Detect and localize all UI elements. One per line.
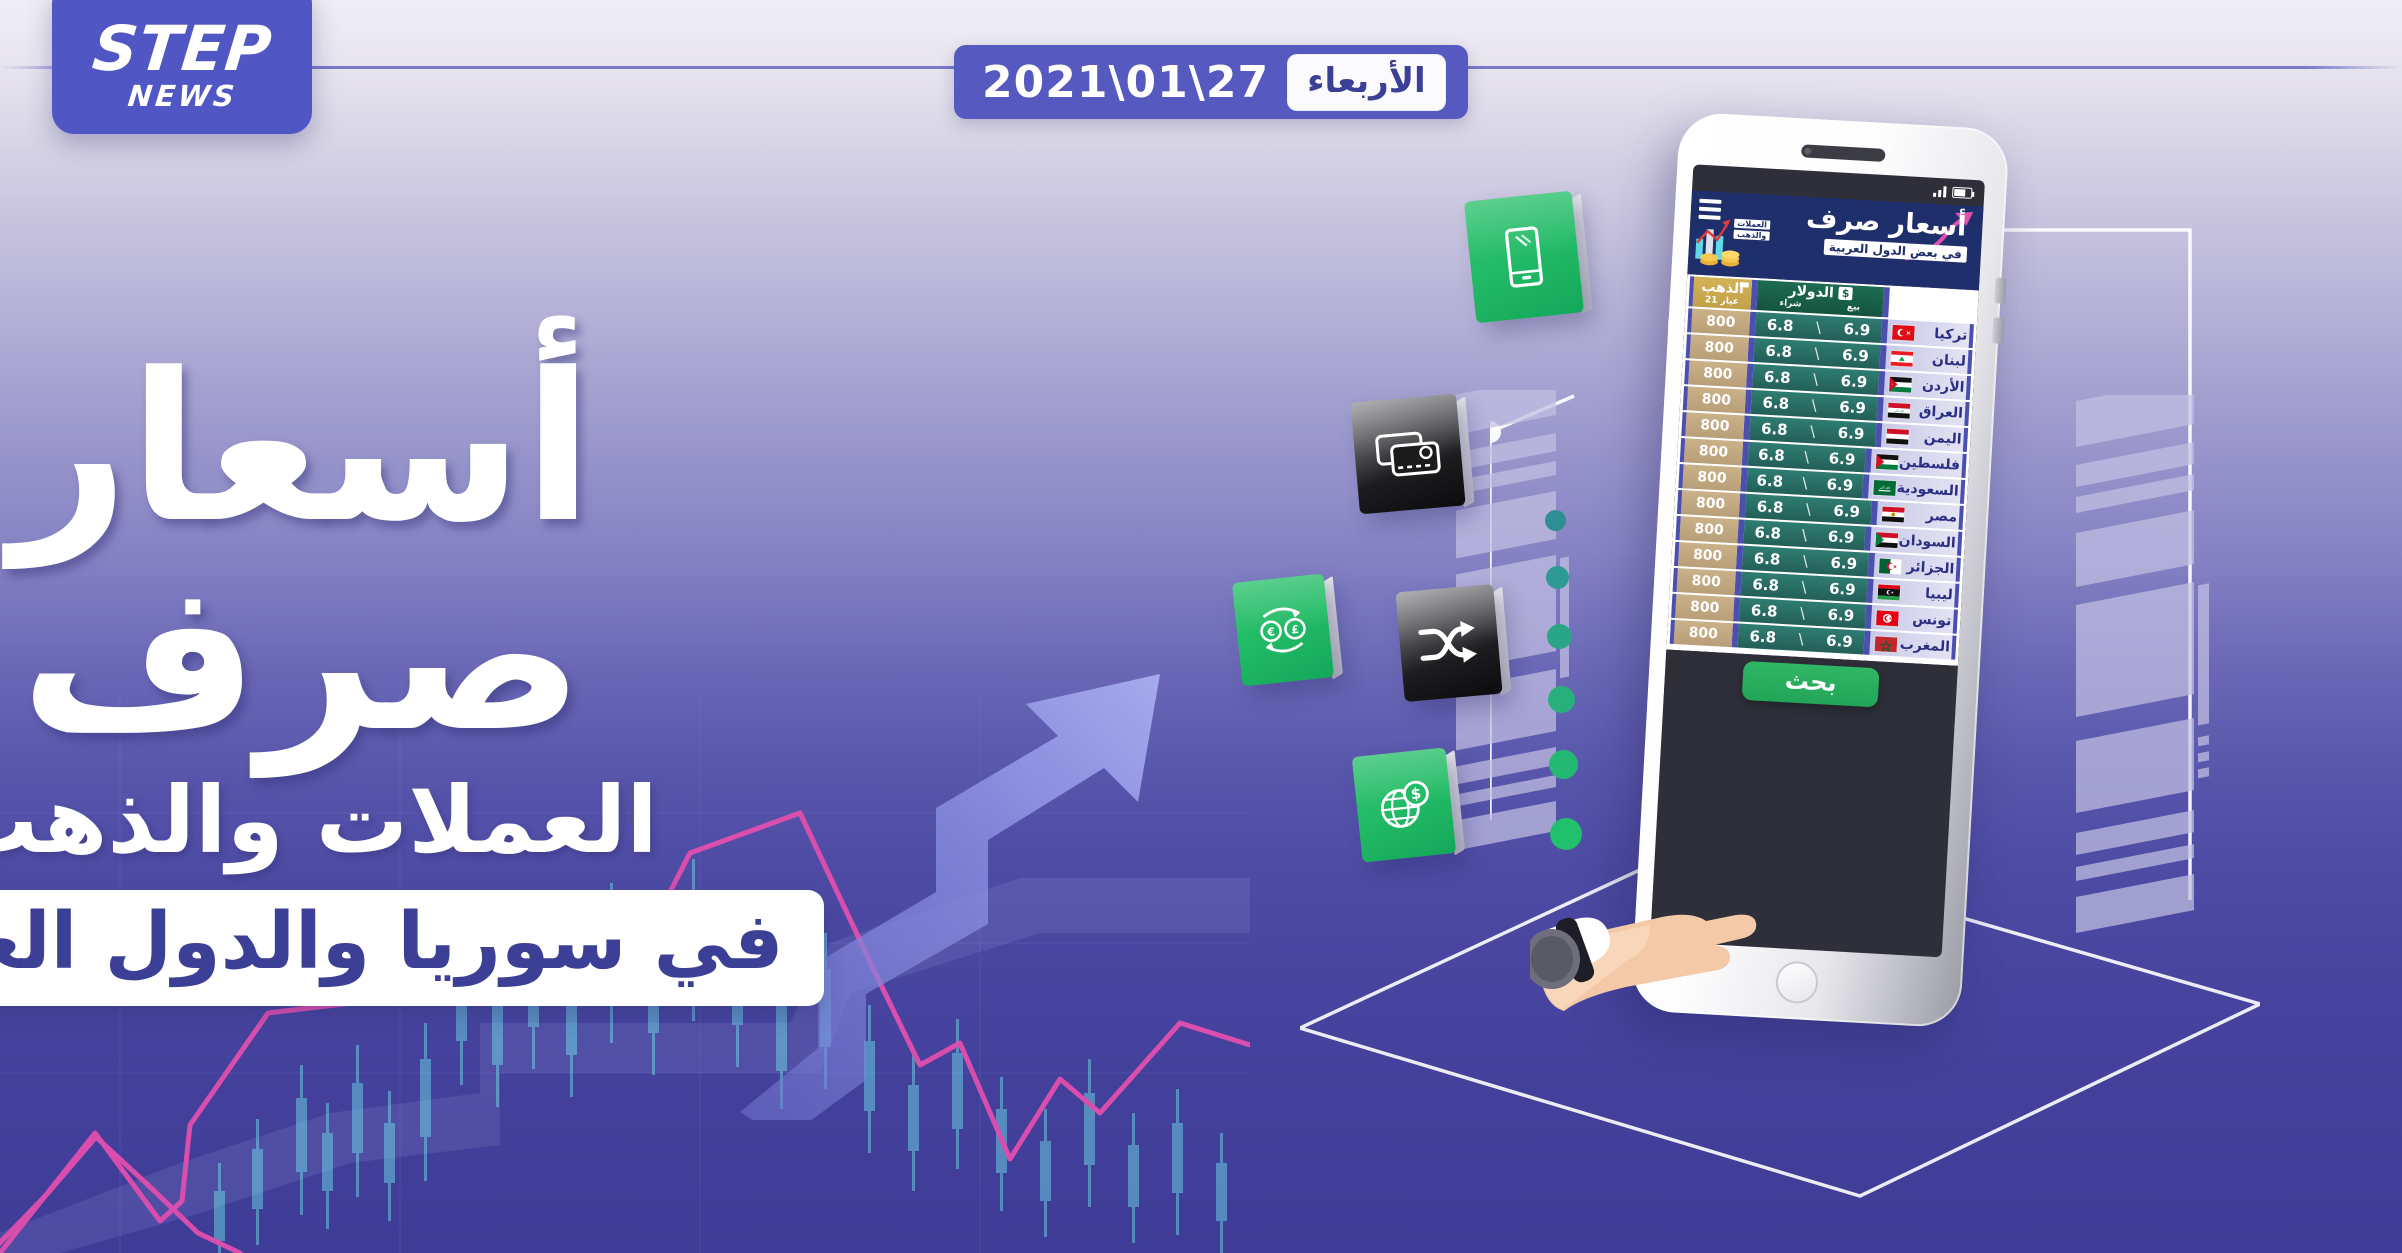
dollar-buy-value: 6.8	[1754, 523, 1782, 542]
rates-table: $ الدولار بيع شراء الذهب عيار 21	[1666, 274, 1979, 666]
cell-country: السعوديةالله أكبر	[1868, 475, 1965, 504]
phone-volume-up-button[interactable]	[1994, 277, 2006, 304]
country-name: العراق	[1919, 403, 1964, 421]
header-gold-karat: عيار 21	[1705, 295, 1740, 307]
header-gold-label: الذهب	[1701, 279, 1744, 295]
gold-value: 800	[1694, 521, 1724, 539]
phone-screen[interactable]: العملات والذهب أسعار صرف في بعض الدول ال…	[1650, 164, 1985, 957]
cell-gold: 800	[1674, 542, 1737, 569]
dollar-sell-value: 6.9	[1828, 449, 1856, 468]
dollar-sell-value: 6.9	[1826, 631, 1854, 650]
app-header: العملات والذهب أسعار صرف في بعض الدول ال…	[1687, 190, 1983, 290]
cell-gold: 800	[1684, 360, 1747, 387]
phone-volume-down-button[interactable]	[1992, 317, 2004, 344]
cell-country: تونس	[1871, 605, 1958, 634]
cell-gold: 800	[1675, 516, 1738, 543]
dollar-buy-value: 6.8	[1753, 549, 1781, 568]
svg-text:£: £	[1291, 623, 1300, 637]
cell-country: اليمن	[1881, 423, 1968, 452]
progress-dot	[1548, 686, 1575, 713]
gold-value: 800	[1691, 573, 1721, 591]
dollar-buy-value: 6.8	[1756, 471, 1784, 490]
country-name: الأردن	[1922, 377, 1965, 395]
dollar-separator: \	[1802, 552, 1808, 570]
dollar-buy-value: 6.8	[1752, 575, 1780, 594]
cell-country: العراقالله أكبر	[1882, 397, 1969, 426]
headline-sub: العملات والذهب	[0, 767, 892, 874]
country-name: المغرب	[1899, 637, 1950, 656]
cell-country: فلسطين	[1870, 449, 1966, 478]
app-header-chips: العملات والذهب	[1733, 219, 1770, 241]
svg-text:$: $	[1410, 784, 1422, 803]
headline-pill: في سوريا والدول العربية	[0, 890, 824, 1006]
cell-gold: 800	[1681, 412, 1744, 439]
cell-country: ليبيا	[1872, 579, 1959, 608]
dollar-sell-value: 6.9	[1829, 580, 1857, 599]
app-subtitle: في بعض الدول العربية	[1823, 239, 1967, 263]
dollar-separator: \	[1801, 578, 1807, 596]
icon-card-credit-cards	[1350, 394, 1465, 515]
step-news-logo[interactable]: STEP NEWS	[52, 0, 312, 134]
dollar-sell-value: 6.9	[1843, 320, 1871, 339]
dollar-separator: \	[1798, 630, 1804, 648]
cell-gold: 800	[1678, 464, 1741, 491]
flag-icon-ly	[1876, 583, 1901, 601]
flag-icon-iq: الله أكبر	[1887, 401, 1912, 419]
mobile-phone-icon	[1493, 221, 1556, 292]
header-country-col	[1888, 287, 1976, 322]
flag-icon-dz	[1878, 557, 1903, 575]
gold-bar-icon	[1740, 282, 1749, 287]
dollar-sell-value: 6.9	[1842, 346, 1870, 365]
cell-country: المغرب	[1869, 631, 1956, 660]
signal-bars-icon	[1933, 185, 1947, 198]
dollar-buy-value: 6.8	[1765, 342, 1793, 361]
flag-icon-ps	[1875, 452, 1900, 470]
cell-gold: 800	[1686, 334, 1749, 361]
country-name: ليبيا	[1925, 586, 1954, 604]
progress-dot	[1547, 624, 1572, 649]
search-button[interactable]: بحث	[1742, 661, 1880, 708]
dollar-sell-value: 6.9	[1840, 372, 1868, 391]
cell-gold: 800	[1680, 438, 1743, 465]
gold-value: 800	[1703, 365, 1733, 383]
progress-dot	[1550, 818, 1582, 850]
gold-value: 800	[1706, 313, 1736, 331]
flag-icon-tr	[1891, 323, 1916, 341]
progress-dot	[1549, 750, 1578, 779]
header-dollar-label: الدولار	[1788, 282, 1834, 301]
headline-main: أسعار صرف	[0, 345, 892, 763]
svg-text:الله أكبر: الله أكبر	[1879, 484, 1891, 490]
gold-value: 800	[1698, 443, 1728, 461]
svg-text:€: €	[1266, 625, 1276, 639]
flag-icon-sa: الله أكبر	[1872, 478, 1897, 496]
country-name: اليمن	[1923, 430, 1962, 448]
credit-cards-icon	[1371, 424, 1445, 484]
dollar-buy-value: 6.8	[1750, 601, 1778, 620]
gold-value: 800	[1690, 599, 1720, 617]
date-badge: 2021\01\27 الأربعاء	[954, 45, 1468, 119]
dollar-buy-value: 6.8	[1756, 497, 1784, 516]
dollar-separator: \	[1810, 422, 1816, 440]
flag-icon-jo	[1888, 375, 1913, 393]
app-chip-gold: والذهب	[1733, 230, 1769, 241]
currency-exchange-icon: € £	[1252, 598, 1314, 662]
dollar-separator: \	[1800, 604, 1806, 622]
country-name: لبنان	[1932, 352, 1967, 370]
dollar-buy-value: 6.8	[1764, 368, 1792, 387]
cell-country: تركيا	[1887, 319, 1974, 348]
dollar-separator: \	[1805, 500, 1811, 518]
pointing-hand-illustration	[1530, 855, 1870, 1055]
gold-value: 800	[1704, 339, 1734, 357]
cell-country: لبنان	[1885, 345, 1972, 374]
progress-dot	[1546, 566, 1569, 589]
cell-gold: 800	[1673, 568, 1736, 595]
cell-country: مصر	[1877, 501, 1964, 530]
header-dollar-col: $ الدولار بيع شراء	[1750, 280, 1889, 318]
logo-step-text: STEP	[90, 20, 275, 79]
dollar-sell-value: 6.9	[1839, 398, 1867, 417]
header-dollar-sell: بيع	[1847, 302, 1861, 313]
icon-card-mobile-phone	[1464, 191, 1584, 324]
icon-card-shuffle	[1395, 584, 1502, 702]
flag-icon-tn	[1875, 609, 1900, 627]
country-name: فلسطين	[1899, 454, 1961, 473]
cell-gold: 800	[1687, 308, 1750, 335]
dollar-separator: \	[1813, 370, 1819, 388]
cell-country: الجزائر	[1874, 553, 1961, 582]
weekday-pill: الأربعاء	[1287, 54, 1446, 111]
cell-gold: 800	[1671, 594, 1734, 621]
header-gold-col: الذهب عيار 21	[1689, 276, 1753, 309]
logo-news-text: NEWS	[126, 81, 238, 113]
country-name: تركيا	[1934, 326, 1968, 344]
battery-icon	[1952, 186, 1973, 198]
dollar-sell-value: 6.9	[1837, 424, 1865, 443]
gold-value: 800	[1695, 495, 1725, 513]
card-face: € £	[1232, 573, 1334, 686]
dollar-sell-value: 6.9	[1827, 527, 1855, 546]
date-text: 2021\01\27	[982, 57, 1269, 108]
dollar-separator: \	[1802, 474, 1808, 492]
gold-value: 800	[1697, 469, 1727, 487]
gold-value: 800	[1693, 547, 1723, 565]
icon-card-currency-exchange: € £	[1232, 573, 1334, 686]
cell-country: السودان	[1870, 527, 1962, 556]
cell-gold: 800	[1683, 386, 1746, 413]
flag-icon-ye	[1885, 427, 1910, 445]
shuffle-arrows-icon	[1416, 614, 1482, 671]
country-name: تونس	[1912, 611, 1952, 629]
flag-icon-ma	[1874, 635, 1899, 653]
headline-block: أسعار صرف العملات والذهب في سوريا والدول…	[0, 345, 892, 1006]
country-name: السودان	[1898, 532, 1956, 551]
dollar-separator: \	[1804, 448, 1810, 466]
app-chip-currencies: العملات	[1734, 219, 1770, 230]
card-face	[1395, 584, 1502, 702]
dollar-separator: \	[1814, 344, 1820, 362]
poster-canvas: 4.78 25 01	[0, 0, 2402, 1253]
country-name: مصر	[1926, 508, 1958, 526]
dollar-symbol-chip: $	[1838, 287, 1852, 301]
country-name: السعودية	[1896, 480, 1959, 499]
table-body: تركيا6.9\6.8800لبنان6.9\6.8800الأردن6.9\…	[1670, 308, 1974, 659]
header-dollar-buy: شراء	[1779, 298, 1802, 309]
dollar-sell-value: 6.9	[1830, 554, 1858, 573]
flag-icon-eg	[1881, 505, 1906, 523]
country-name: الجزائر	[1906, 559, 1954, 578]
gold-value: 800	[1701, 391, 1731, 409]
dollar-buy-value: 6.8	[1762, 394, 1790, 413]
dollar-buy-value: 6.8	[1766, 316, 1794, 335]
flag-icon-sd	[1874, 531, 1899, 549]
cell-gold: 800	[1677, 490, 1740, 517]
dollar-sell-value: 6.9	[1833, 502, 1861, 521]
card-face	[1464, 191, 1584, 324]
flag-icon-lb	[1889, 349, 1914, 367]
dollar-buy-value: 6.8	[1749, 627, 1777, 646]
card-face	[1350, 394, 1465, 515]
cell-gold: 800	[1670, 620, 1733, 647]
globe-dollar-icon: $	[1372, 773, 1436, 837]
gold-value: 800	[1700, 417, 1730, 435]
icon-card-globe-dollar: $	[1352, 747, 1457, 862]
progress-dot	[1545, 510, 1566, 531]
dollar-buy-value: 6.8	[1758, 445, 1786, 464]
document-bars-right	[2066, 395, 2226, 995]
dollar-separator: \	[1816, 318, 1822, 336]
svg-text:الله أكبر: الله أكبر	[1893, 408, 1904, 413]
dollar-sell-value: 6.9	[1827, 606, 1855, 625]
cell-dollar: 6.9\6.8	[1732, 623, 1871, 655]
dollar-separator: \	[1801, 526, 1807, 544]
card-face: $	[1352, 747, 1457, 862]
dollar-separator: \	[1811, 396, 1817, 414]
cell-country: الأردن	[1884, 371, 1971, 400]
gold-value: 800	[1688, 625, 1718, 643]
dollar-sell-value: 6.9	[1826, 475, 1854, 494]
dollar-buy-value: 6.8	[1761, 420, 1789, 439]
